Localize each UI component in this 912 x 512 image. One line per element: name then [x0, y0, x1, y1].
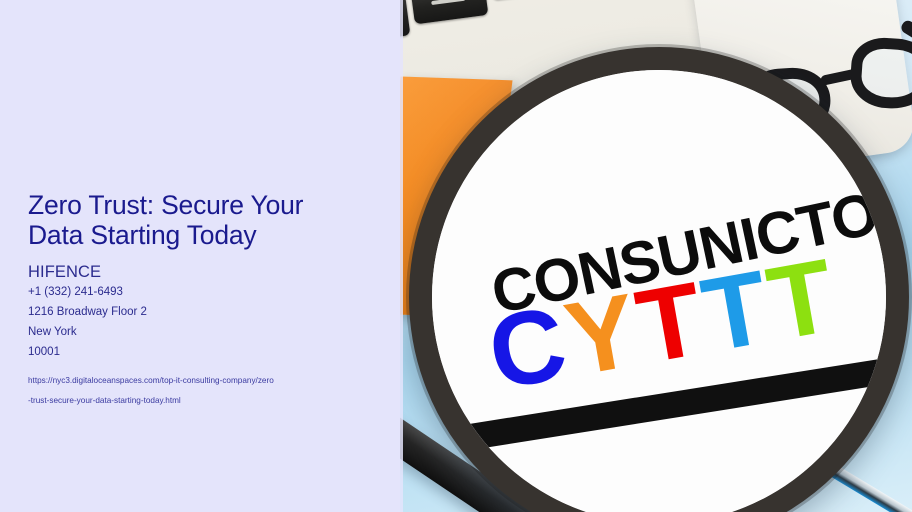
city-name: New York	[28, 322, 378, 342]
info-content: Zero Trust: Secure Your Data Starting To…	[28, 190, 378, 411]
colored-letter-0: C	[483, 300, 572, 399]
hero-photo: CONSUNICTON C Y T T T	[400, 0, 912, 512]
info-panel: Zero Trust: Secure Your Data Starting To…	[0, 0, 400, 512]
photo-left-edge	[400, 0, 403, 512]
source-url-line-2: -trust-secure-your-data-starting-today.h…	[28, 391, 378, 411]
colored-letter-2: T	[631, 276, 709, 373]
colored-letter-4: T	[762, 253, 840, 350]
street-address: 1216 Broadway Floor 2	[28, 302, 378, 322]
phone-number[interactable]: +1 (332) 241-6493	[28, 282, 378, 302]
source-url-line-1: https://nyc3.digitaloceanspaces.com/top-…	[28, 371, 378, 391]
source-url-link[interactable]: https://nyc3.digitaloceanspaces.com/top-…	[28, 371, 378, 411]
brand-name: HIFENCE	[28, 262, 378, 282]
postal-code: 10001	[28, 342, 378, 362]
keyboard-key	[410, 0, 488, 24]
page-title: Zero Trust: Secure Your Data Starting To…	[28, 190, 378, 250]
magnified-page: CONSUNICTON C Y T T T	[432, 70, 886, 512]
colored-letter-3: T	[697, 264, 775, 361]
magnifier-lens: CONSUNICTON C Y T T T	[409, 47, 909, 512]
promo-card: Zero Trust: Secure Your Data Starting To…	[0, 0, 912, 512]
colored-letter-1: Y	[560, 287, 643, 385]
